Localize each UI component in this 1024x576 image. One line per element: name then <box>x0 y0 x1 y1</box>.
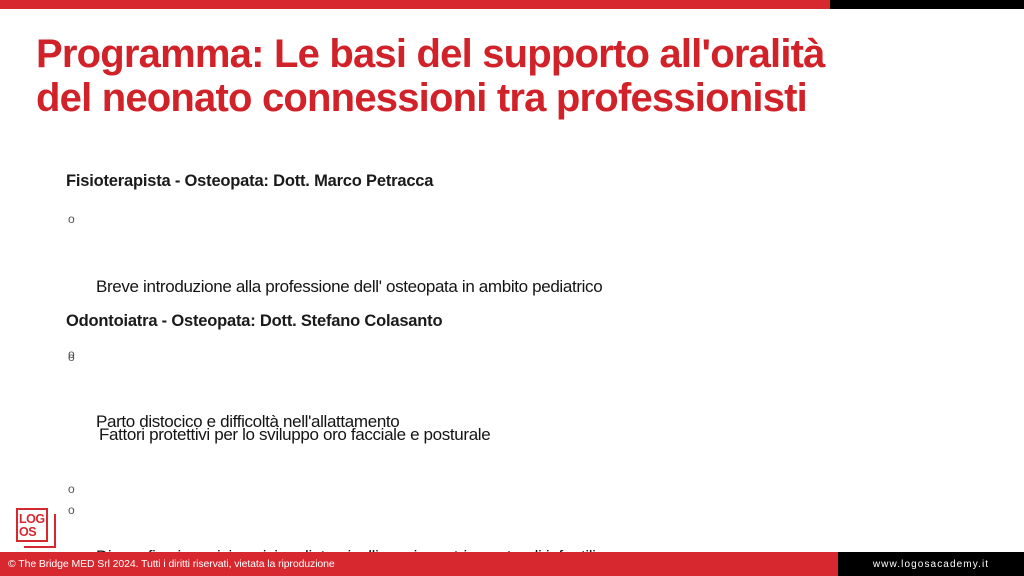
footer-website-area: www.logosacademy.it <box>838 552 1024 576</box>
top-accent-bar-black <box>830 0 1024 9</box>
logos-logo: LOG OS <box>16 506 58 546</box>
slide: Programma: Le basi del supporto all'oral… <box>0 0 1024 576</box>
page-title-line-1: Programma: Le basi del supporto all'oral… <box>36 32 996 76</box>
list-item-text: Fattori protettivi per lo sviluppo oro f… <box>68 422 988 448</box>
footer-copyright-area: © The Bridge MED Srl 2024. Tutti i dirit… <box>0 552 838 576</box>
page-title: Programma: Le basi del supporto all'oral… <box>36 32 996 120</box>
bullet-circle-icon: o <box>68 208 90 231</box>
section-heading-odontoiatra: Odontoiatra - Osteopata: Dott. Stefano C… <box>66 312 442 331</box>
list-item: o Fattori protettivi per lo sviluppo oro… <box>68 345 988 498</box>
bullet-circle-icon: o <box>68 345 90 371</box>
top-accent-bar <box>0 0 1024 9</box>
footer-copyright-text: © The Bridge MED Srl 2024. Tutti i dirit… <box>0 558 335 570</box>
footer-website-text: www.logosacademy.it <box>873 559 989 570</box>
list-item-text: Breve introduzione alla professione dell… <box>68 276 968 299</box>
section-heading-fisioterapista: Fisioterapista - Osteopata: Dott. Marco … <box>66 172 433 191</box>
logo-text-line-2: OS <box>19 526 47 539</box>
page-title-line-2: del neonato connessioni tra professionis… <box>36 76 996 120</box>
bullet-list-odontoiatra: o Fattori protettivi per lo sviluppo oro… <box>68 345 988 576</box>
top-accent-bar-red <box>0 0 830 9</box>
footer-bar: © The Bridge MED Srl 2024. Tutti i dirit… <box>0 552 1024 576</box>
bullet-circle-icon: o <box>68 498 90 524</box>
